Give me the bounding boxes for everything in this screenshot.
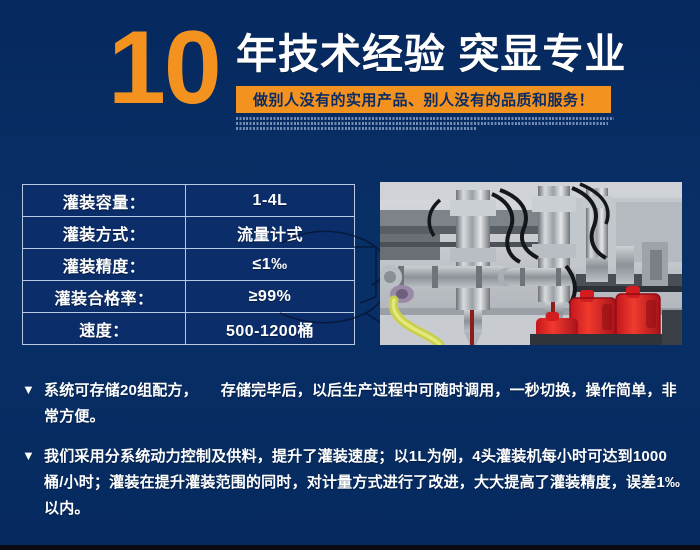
header-section: 10 年技术经验 突显专业 做别人没有的实用产品、别人没有的品质和服务！ xyxy=(0,0,700,150)
spec-label: 灌装容量： xyxy=(23,185,186,216)
bullet-text: 我们采用分系统动力控制及供料，提升了灌装速度；以1L为例，4头灌装机每小时可达到… xyxy=(44,444,682,522)
spec-value: 流量计式 xyxy=(186,217,354,248)
decorative-micro-text xyxy=(236,117,616,133)
machine-photo-illustration xyxy=(380,182,682,345)
triangle-down-icon: ▼ xyxy=(22,444,44,522)
table-row: 速度： 500-1200桶 xyxy=(23,313,354,345)
spec-label: 速度： xyxy=(23,313,186,345)
spec-table: 灌装容量： 1-4L 灌装方式： 流量计式 灌装精度： ≤1‰ 灌装合格率： ≥… xyxy=(22,184,355,345)
micro-text-line xyxy=(236,117,614,120)
table-row: 灌装方式： 流量计式 xyxy=(23,217,354,249)
spec-label: 灌装方式： xyxy=(23,217,186,248)
spec-value: ≤1‰ xyxy=(186,249,354,280)
table-row: 灌装合格率： ≥99% xyxy=(23,281,354,313)
list-item: ▼ 我们采用分系统动力控制及供料，提升了灌装速度；以1L为例，4头灌装机每小时可… xyxy=(22,444,682,522)
micro-text-line xyxy=(236,122,608,125)
micro-text-line xyxy=(236,127,476,130)
table-row: 灌装容量： 1-4L xyxy=(23,185,354,217)
headline-text: 年技术经验 突显专业 xyxy=(236,29,626,79)
list-item: ▼ 系统可存储20组配方， 存储完毕后，以后生产过程中可随时调用，一秒切换，操作… xyxy=(22,378,682,430)
spec-value: 1-4L xyxy=(186,185,354,216)
spec-label: 灌装合格率： xyxy=(23,281,186,312)
spec-value: ≥99% xyxy=(186,281,354,312)
bullet-list: ▼ 系统可存储20组配方， 存储完毕后，以后生产过程中可随时调用，一秒切换，操作… xyxy=(22,378,682,536)
bullet-text: 系统可存储20组配方， 存储完毕后，以后生产过程中可随时调用，一秒切换，操作简单… xyxy=(44,378,682,430)
triangle-down-icon: ▼ xyxy=(22,378,44,430)
spec-value: 500-1200桶 xyxy=(186,313,354,345)
promo-banner: 10 年技术经验 突显专业 做别人没有的实用产品、别人没有的品质和服务！ 灌装容… xyxy=(0,0,700,550)
subtitle-bar: 做别人没有的实用产品、别人没有的品质和服务！ xyxy=(236,86,611,113)
spec-label: 灌装精度： xyxy=(23,249,186,280)
big-number-10: 10 xyxy=(108,16,220,120)
table-row: 灌装精度： ≤1‰ xyxy=(23,249,354,281)
subtitle-text: 做别人没有的实用产品、别人没有的品质和服务！ xyxy=(253,89,594,110)
bottom-strip xyxy=(0,545,700,550)
machine-photo xyxy=(380,182,682,345)
